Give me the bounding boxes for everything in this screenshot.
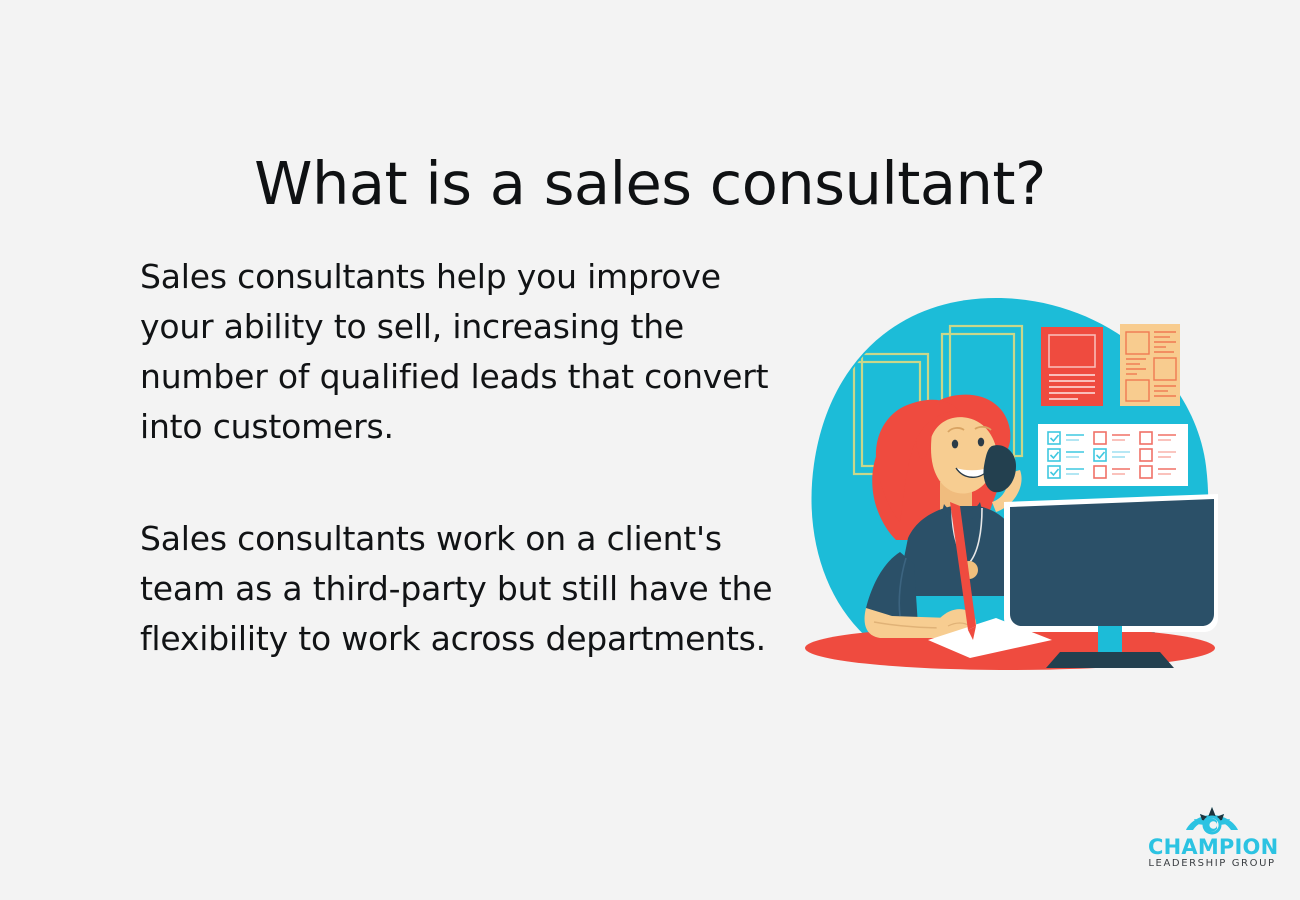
- page-title: What is a sales consultant?: [0, 152, 1300, 217]
- body-copy: Sales consultants help you improve your …: [140, 252, 820, 664]
- red-poster: [1041, 327, 1103, 406]
- checklist-board: [1038, 424, 1188, 486]
- champion-crown-c-icon: [1181, 806, 1243, 836]
- consultant-illustration: [800, 296, 1220, 688]
- body-paragraph-1: Sales consultants help you improve your …: [140, 252, 800, 452]
- brand-name: CHAMPION: [1148, 837, 1276, 857]
- brand-tagline: LEADERSHIP GROUP: [1148, 857, 1276, 870]
- body-paragraph-2: Sales consultants work on a client's tea…: [140, 514, 800, 664]
- tan-poster: [1120, 324, 1180, 406]
- brand-logo: CHAMPION LEADERSHIP GROUP: [1148, 806, 1276, 870]
- slide-canvas: What is a sales consultant? Sales consul…: [0, 0, 1300, 900]
